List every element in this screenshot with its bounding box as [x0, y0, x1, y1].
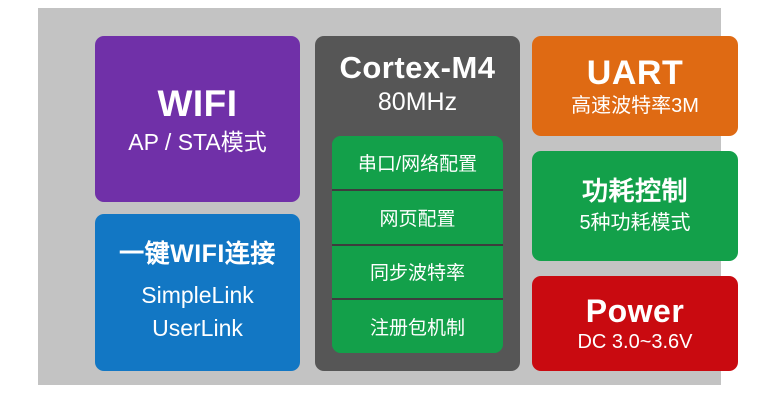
card-power-control-subtitle: 5种功耗模式 [579, 212, 690, 235]
card-power: Power DC 3.0~3.6V [532, 276, 738, 371]
card-power-title: Power [586, 293, 685, 330]
card-power-control: 功耗控制 5种功耗模式 [532, 151, 738, 261]
card-uart: UART 高速波特率3M [532, 36, 738, 136]
list-item: 串口/网络配置 [332, 136, 503, 191]
card-one-key-wifi-title: 一键WIFI连接 [119, 240, 276, 269]
card-uart-title: UART [587, 54, 683, 93]
card-power-subtitle: DC 3.0~3.6V [577, 331, 692, 354]
card-wifi-title: WIFI [157, 83, 237, 126]
card-wifi: WIFI AP / STA模式 [95, 36, 300, 202]
module-feature-diagram: WIFI AP / STA模式 一键WIFI连接 SimpleLink User… [0, 0, 760, 400]
card-cortex-m4-title: Cortex-M4 [339, 50, 495, 86]
cortex-feature-list: 串口/网络配置 网页配置 同步波特率 注册包机制 [332, 136, 503, 353]
diagram-panel: WIFI AP / STA模式 一键WIFI连接 SimpleLink User… [38, 8, 721, 385]
list-item: 同步波特率 [332, 246, 503, 301]
card-uart-subtitle: 高速波特率3M [571, 95, 699, 118]
card-wifi-subtitle: AP / STA模式 [128, 129, 266, 155]
list-item: 注册包机制 [332, 300, 503, 353]
card-one-key-wifi-line1: SimpleLink [141, 279, 254, 312]
card-cortex-m4-subtitle: 80MHz [378, 88, 457, 117]
card-power-control-title: 功耗控制 [582, 177, 688, 207]
list-item: 网页配置 [332, 191, 503, 246]
card-one-key-wifi-line2: UserLink [152, 312, 243, 345]
card-one-key-wifi: 一键WIFI连接 SimpleLink UserLink [95, 214, 300, 371]
